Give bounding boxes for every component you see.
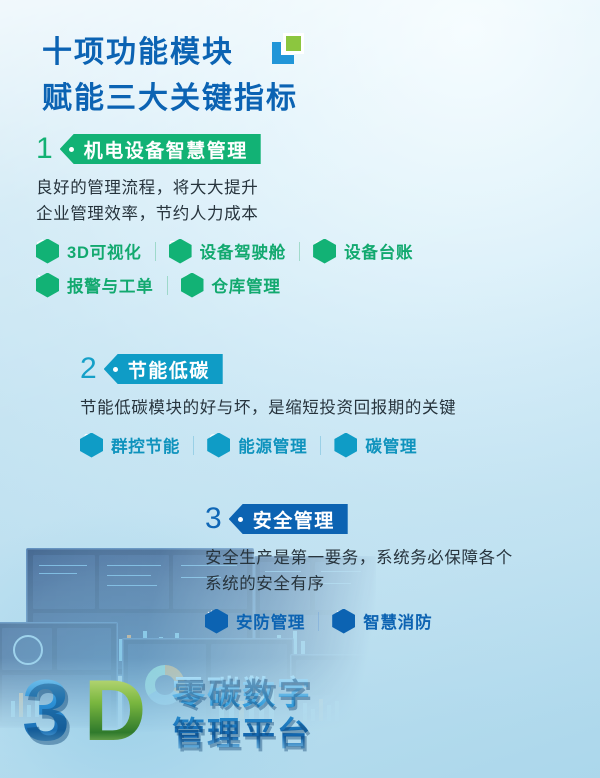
brand-d: D — [84, 668, 144, 754]
feature-carbon-management[interactable]: CO 碳管理 — [334, 433, 417, 458]
feature-3d-visualization[interactable]: 3D可视化 — [36, 239, 142, 264]
section-2-features: 群控节能 能源管理 CO 碳管理 — [80, 428, 550, 462]
feature-divider — [320, 436, 321, 455]
section-1-tag: 机电设备智慧管理 — [60, 134, 261, 164]
feature-label: 设备驾驶舱 — [200, 239, 287, 263]
feature-alarm-workorder[interactable]: 报警与工单 — [36, 273, 154, 298]
brand-3: 3 — [22, 668, 68, 754]
infographic-poster: 十项功能模块 赋能三大关键指标 1 机电设备智慧管理 良好的管理流程，将大大提升… — [0, 0, 600, 778]
cube-3d-icon — [36, 239, 59, 264]
section-1-features: 3D可视化 设备驾驶舱 设备台账 — [36, 234, 456, 302]
smart-fire-icon — [332, 609, 355, 634]
section-3-tag: 安全管理 — [229, 504, 348, 534]
feature-label: 设备台账 — [344, 239, 413, 263]
page-title-line-2: 赋能三大关键指标 — [42, 76, 472, 122]
group-control-icon — [80, 433, 103, 458]
feature-divider — [193, 436, 194, 455]
feature-label: 仓库管理 — [212, 273, 281, 297]
feature-divider — [318, 612, 319, 631]
tools-alarm-icon — [36, 273, 59, 298]
feature-divider — [155, 242, 156, 261]
feature-divider — [299, 242, 300, 261]
feature-label: 能源管理 — [238, 433, 307, 457]
logo-green-square — [283, 33, 304, 54]
section-3: 3 安全管理 安全生产是第一要务，系统务必保障各个 系统的安全有序 安防管理 — [205, 502, 585, 638]
section-1-tag-label: 机电设备智慧管理 — [84, 136, 248, 163]
brand-cn-line-1: 零碳数字 — [172, 672, 362, 713]
section-3-desc-line-1: 安全生产是第一要务，系统务必保障各个 — [205, 545, 585, 571]
section-3-number: 3 — [205, 504, 222, 534]
logo-square-mark — [272, 33, 306, 65]
section-3-features: 安防管理 智慧消防 — [205, 604, 585, 638]
section-1: 1 机电设备智慧管理 良好的管理流程，将大大提升 企业管理效率，节约人力成本 3… — [36, 132, 456, 302]
section-3-description: 安全生产是第一要务，系统务必保障各个 系统的安全有序 — [205, 545, 585, 597]
section-2-tag-label: 节能低碳 — [128, 356, 210, 383]
section-1-description: 良好的管理流程，将大大提升 企业管理效率，节约人力成本 — [36, 175, 456, 227]
section-2-desc-line-1: 节能低碳模块的好与坏，是缩短投资回报期的关键 — [80, 395, 550, 421]
gears-ledger-icon — [313, 239, 336, 264]
page-title-line-1: 十项功能模块 — [42, 30, 472, 76]
brand-cn: 零碳数字 管理平台 — [172, 672, 362, 754]
feature-divider — [167, 276, 168, 295]
brand-cn-line-2: 管理平台 — [172, 713, 362, 754]
energy-bulb-icon — [207, 433, 230, 458]
feature-security-management[interactable]: 安防管理 — [205, 609, 305, 634]
tag-dot-icon — [69, 147, 74, 152]
tag-dot-icon — [113, 367, 118, 372]
feature-label: 安防管理 — [236, 609, 305, 633]
section-2: 2 节能低碳 节能低碳模块的好与坏，是缩短投资回报期的关键 群控节能 — [80, 352, 550, 462]
feature-label: 群控节能 — [111, 433, 180, 457]
section-1-desc-line-1: 良好的管理流程，将大大提升 — [36, 175, 456, 201]
security-shield-icon — [205, 609, 228, 634]
section-1-header: 1 机电设备智慧管理 — [36, 132, 456, 166]
section-2-feature-row-1: 群控节能 能源管理 CO 碳管理 — [80, 428, 550, 462]
feature-label: 3D可视化 — [67, 239, 142, 263]
section-3-desc-line-2: 系统的安全有序 — [205, 571, 585, 597]
section-3-header: 3 安全管理 — [205, 502, 585, 536]
section-1-feature-row-1: 3D可视化 设备驾驶舱 设备台账 — [36, 234, 456, 268]
section-1-feature-row-2: 报警与工单 仓库管理 — [36, 268, 456, 302]
section-2-description: 节能低碳模块的好与坏，是缩短投资回报期的关键 — [80, 395, 550, 421]
section-2-number: 2 — [80, 354, 97, 384]
carbon-cloud-icon: CO — [334, 433, 357, 458]
feature-warehouse-management[interactable]: 仓库管理 — [181, 273, 281, 298]
section-3-feature-row-1: 安防管理 智慧消防 — [205, 604, 585, 638]
section-2-tag: 节能低碳 — [104, 354, 223, 384]
section-2-header: 2 节能低碳 — [80, 352, 550, 386]
feature-group-control-saving[interactable]: 群控节能 — [80, 433, 180, 458]
feature-equipment-cockpit[interactable]: 设备驾驶舱 — [169, 239, 287, 264]
feature-energy-management[interactable]: 能源管理 — [207, 433, 307, 458]
tag-dot-icon — [238, 517, 243, 522]
warehouse-icon — [181, 273, 204, 298]
page-title: 十项功能模块 赋能三大关键指标 — [42, 30, 472, 122]
feature-label: 报警与工单 — [67, 273, 154, 297]
section-1-desc-line-2: 企业管理效率，节约人力成本 — [36, 201, 456, 227]
feature-label: 智慧消防 — [363, 609, 432, 633]
brand-wordmark: 3 D 零碳数字 管理平台 — [22, 668, 352, 772]
feature-label: 碳管理 — [365, 433, 417, 457]
section-3-tag-label: 安全管理 — [253, 506, 335, 533]
dashboard-cockpit-icon — [169, 239, 192, 264]
feature-smart-fire-protection[interactable]: 智慧消防 — [332, 609, 432, 634]
feature-equipment-ledger[interactable]: 设备台账 — [313, 239, 413, 264]
section-1-number: 1 — [36, 134, 53, 164]
